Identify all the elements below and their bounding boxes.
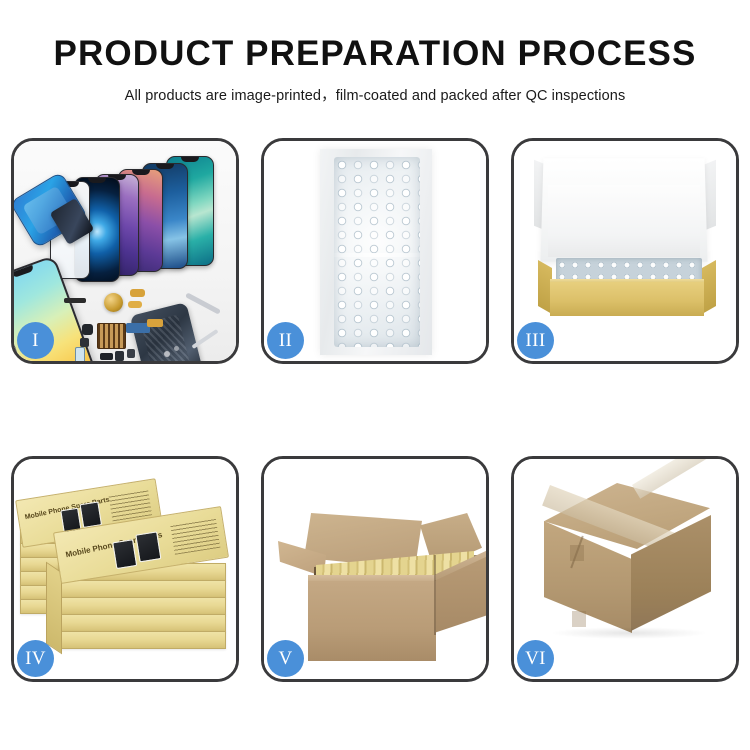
stacked-box — [58, 597, 226, 615]
carton-handle-notch — [572, 611, 586, 627]
step-badge-6: VI — [517, 640, 554, 677]
box-lid-screen-image — [135, 531, 161, 562]
earpiece-mesh-part — [64, 298, 86, 303]
box-lid-spec-lines — [170, 518, 220, 555]
step-panel-5: V — [261, 456, 489, 682]
step-panel-6: VI — [511, 456, 739, 682]
step-badge-1: I — [17, 322, 54, 359]
page-title: PRODUCT PREPARATION PROCESS — [0, 0, 750, 73]
step-panel-2: II — [261, 138, 489, 364]
stacked-box — [58, 614, 226, 632]
flex-cable-part — [128, 301, 142, 308]
page-subtitle: All products are image-printed，film-coat… — [0, 73, 750, 105]
camera-module-part — [82, 324, 93, 335]
box-side-right — [702, 260, 716, 314]
box-lid-screen-image — [80, 501, 103, 528]
screw-part — [164, 351, 170, 357]
screwdriver-tool-icon — [185, 292, 221, 314]
stacked-box — [58, 580, 226, 598]
screw-part — [174, 346, 179, 351]
foam-sheet — [548, 185, 700, 257]
screw-tray-icon — [97, 323, 126, 349]
bubble-wrap-bag — [334, 157, 420, 347]
flex-cable-part — [130, 289, 145, 297]
carton-corner-edge — [434, 555, 436, 635]
carton-shadow — [550, 627, 708, 639]
carton-front-panel — [308, 581, 436, 661]
page-header: PRODUCT PREPARATION PROCESS All products… — [0, 0, 750, 128]
step-panel-4: Mobile Phone Spare Parts Mobile Phone Sp… — [11, 456, 239, 682]
process-steps-grid: I II III — [11, 138, 739, 684]
step-panel-3: III — [511, 138, 739, 364]
bubble-pattern-overlay — [334, 157, 420, 347]
chip-part — [100, 353, 113, 360]
box-lid-screen-image — [112, 539, 137, 569]
battery-part — [75, 347, 85, 361]
step-badge-4: IV — [17, 640, 54, 677]
step-panel-1: I — [11, 138, 239, 364]
box-lid-spec-lines — [109, 489, 153, 521]
step-badge-5: V — [267, 640, 304, 677]
stacked-box — [58, 631, 226, 649]
speaker-part-icon — [104, 293, 123, 312]
carton-handle-notch — [570, 545, 584, 561]
flex-cable-part — [147, 319, 163, 327]
tweezers-tool-icon — [191, 329, 218, 349]
step-badge-2: II — [267, 322, 304, 359]
camera-module-part — [80, 338, 89, 347]
step-badge-3: III — [517, 322, 554, 359]
chip-part — [127, 349, 135, 358]
wrap-crease — [334, 253, 420, 257]
chip-part — [115, 351, 124, 361]
box-front-kraft — [550, 282, 704, 316]
